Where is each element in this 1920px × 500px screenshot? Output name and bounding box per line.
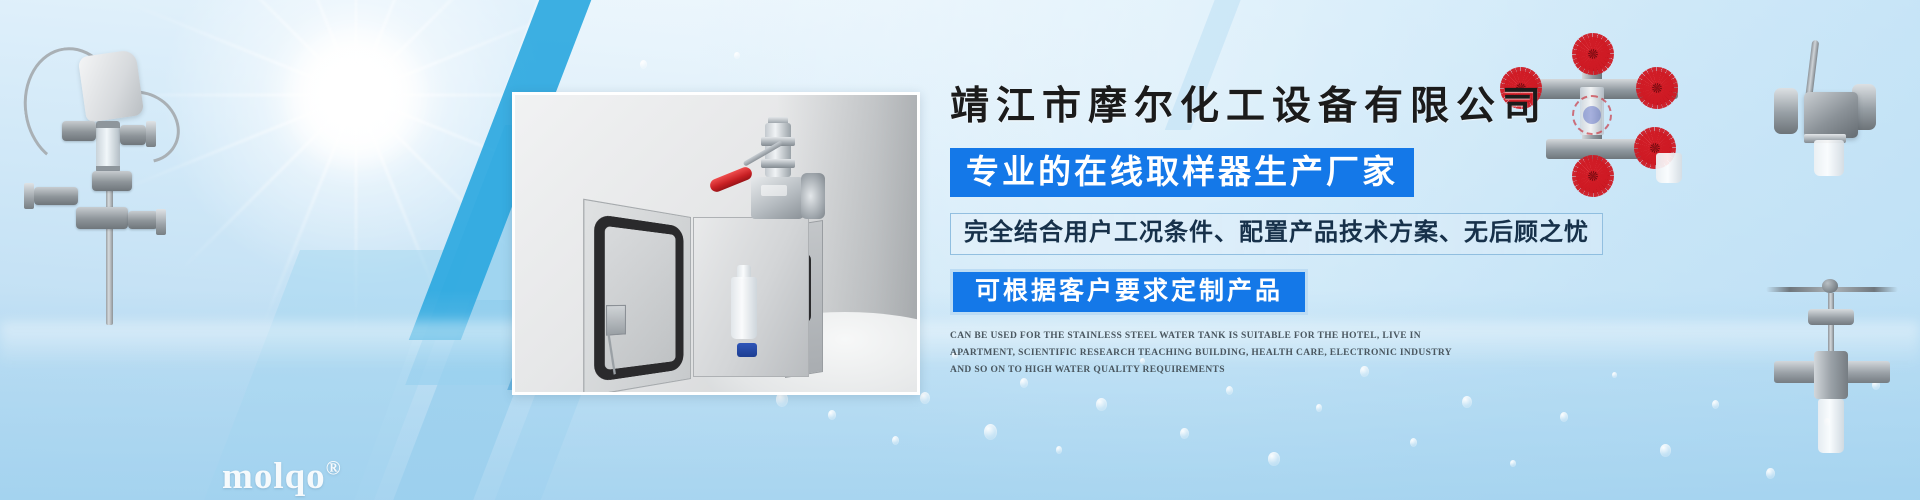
sample-bottle-blue-cap xyxy=(737,343,757,357)
cabinet-valve-assembly xyxy=(727,115,837,225)
english-description: CAN BE USED FOR THE STAINLESS STEEL WATE… xyxy=(950,328,1460,378)
sampler-valve-block-upper-left xyxy=(62,121,96,141)
product-photo-sampling-cabinet xyxy=(512,92,920,395)
product-photo-inner xyxy=(515,95,917,392)
valve-main-body xyxy=(751,177,803,219)
valve-outlet-flange xyxy=(801,173,825,219)
sampler-flange-left xyxy=(24,183,34,209)
sampler-flange-right xyxy=(156,209,166,235)
sampler-valve-block-lower-right xyxy=(128,211,158,229)
promo-banner: 靖江市摩尔化工设备有限公司 专业的在线取样器生产厂家 完全结合用户工况条件、配置… xyxy=(0,0,1920,500)
subline-badge: 完全结合用户工况条件、配置产品技术方案、无后顾之忧 xyxy=(950,213,1603,254)
sampler-flange-top-right xyxy=(146,121,156,147)
sample-bottle xyxy=(731,277,757,339)
sampler-valve-block-mid xyxy=(92,171,132,191)
product-image-pole-sampler xyxy=(10,25,190,325)
sampler-relief-valve xyxy=(34,187,78,205)
sampler-sight-glass xyxy=(96,121,120,173)
sampler-valve-block-lower xyxy=(76,207,128,229)
valve-nut-lower xyxy=(761,159,795,168)
company-name: 靖江市摩尔化工设备有限公司 xyxy=(950,84,1850,131)
registered-trademark-icon: ® xyxy=(326,458,342,480)
valve-red-handle xyxy=(708,165,754,194)
sampler-housing xyxy=(78,49,145,122)
cabinet-door-gasket xyxy=(594,214,683,383)
cabinet-door-latch xyxy=(606,305,626,336)
custom-product-badge: 可根据客户要求定制产品 xyxy=(950,269,1308,316)
headline-badge: 专业的在线取样器生产厂家 xyxy=(950,148,1414,198)
t-valve-sample-bottle xyxy=(1818,399,1844,453)
handwheel-top xyxy=(1576,37,1610,71)
sampler-valve-block-upper-right xyxy=(120,125,146,145)
valve-brand-label xyxy=(761,185,787,196)
banner-text-block: 靖江市摩尔化工设备有限公司 专业的在线取样器生产厂家 完全结合用户工况条件、配置… xyxy=(950,84,1850,378)
cabinet-door xyxy=(583,199,691,392)
sampler-pole xyxy=(106,175,113,325)
brand-watermark-text: molqo xyxy=(222,456,326,497)
brand-watermark: molqo® xyxy=(222,455,342,498)
sun-core-glow xyxy=(281,22,431,172)
